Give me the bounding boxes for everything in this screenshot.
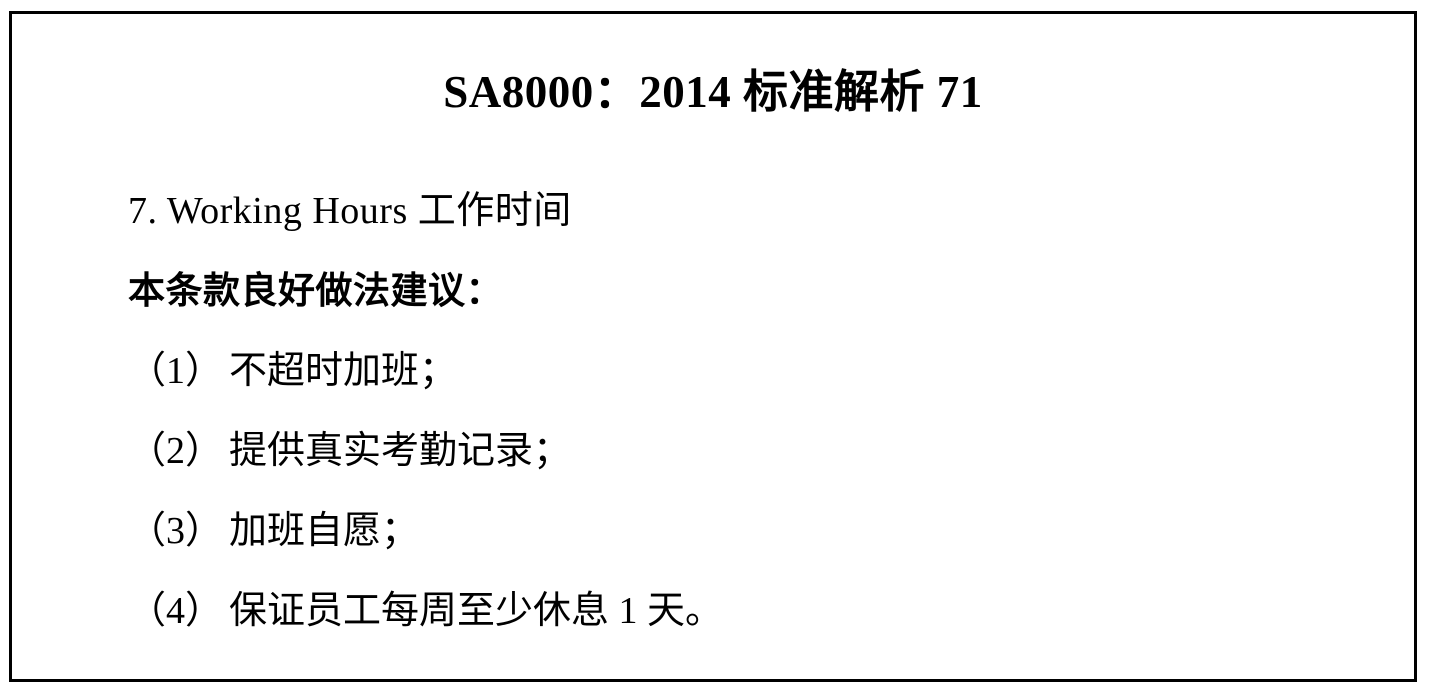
list-item-marker: （2） bbox=[128, 411, 223, 491]
page-title: SA8000：2014 标准解析 71 bbox=[9, 65, 1417, 119]
list-item-text: 不超时加班； bbox=[229, 331, 457, 411]
list-item: （2）提供真实考勤记录； bbox=[128, 411, 1387, 491]
list-item: （3）加班自愿； bbox=[128, 491, 1387, 571]
body-text-block: 7. Working Hours 工作时间 本条款良好做法建议： （1）不超时加… bbox=[128, 171, 1387, 651]
subsection-heading: 本条款良好做法建议： bbox=[128, 251, 1387, 331]
list-item-marker: （4） bbox=[128, 571, 223, 651]
list-item-text: 加班自愿； bbox=[229, 491, 419, 571]
list-item-text: 提供真实考勤记录； bbox=[229, 411, 571, 491]
page-content: SA8000：2014 标准解析 71 7. Working Hours 工作时… bbox=[9, 11, 1417, 682]
document-page: SA8000：2014 标准解析 71 7. Working Hours 工作时… bbox=[0, 0, 1432, 696]
list-item-marker: （1） bbox=[128, 331, 223, 411]
list-item: （4）保证员工每周至少休息 1 天。 bbox=[128, 571, 1387, 651]
list-item-marker: （3） bbox=[128, 491, 223, 571]
list-item: （1）不超时加班； bbox=[128, 331, 1387, 411]
list-item-text: 保证员工每周至少休息 1 天。 bbox=[229, 571, 723, 651]
section-heading: 7. Working Hours 工作时间 bbox=[128, 171, 1387, 251]
